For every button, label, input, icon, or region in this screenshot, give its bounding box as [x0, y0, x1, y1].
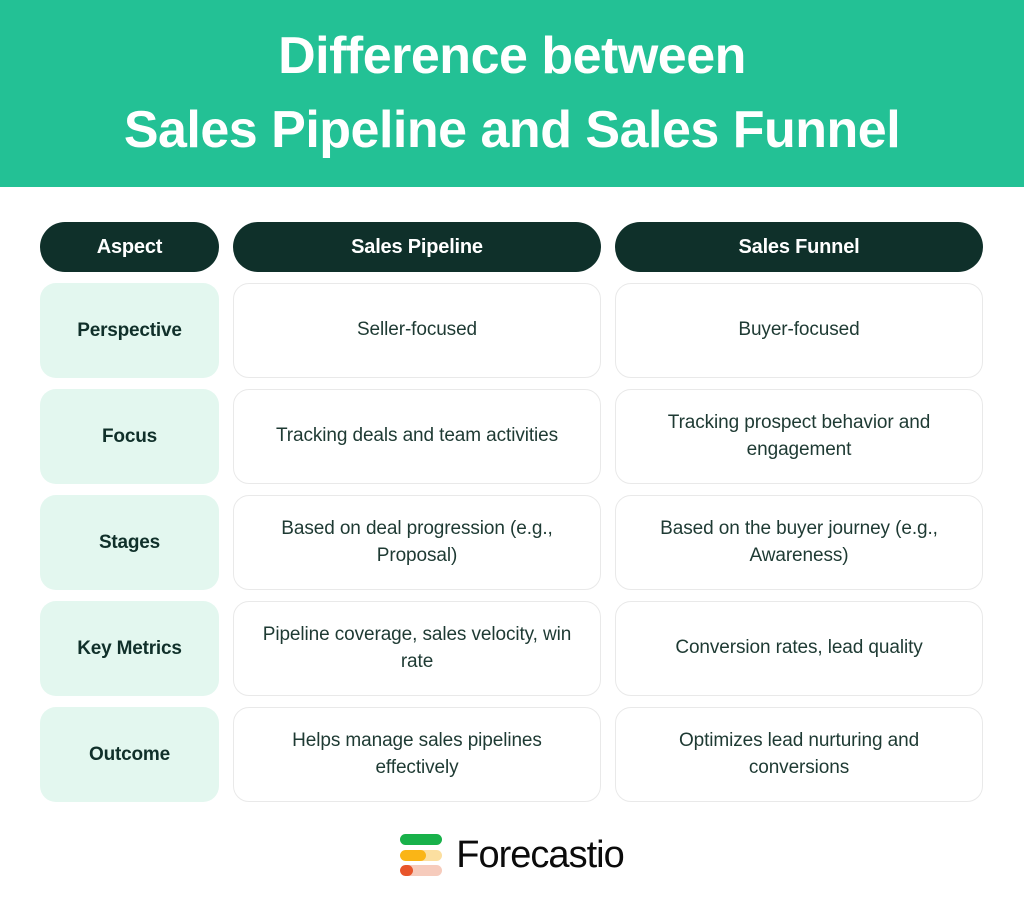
brand-footer: Forecastio [0, 832, 1024, 878]
page-title-line2: Sales Pipeline and Sales Funnel [124, 94, 900, 168]
column-header-sales-funnel: Sales Funnel [615, 222, 983, 272]
row-label-focus: Focus [40, 389, 219, 484]
table-row: Focus Tracking deals and team activities… [40, 389, 984, 484]
row-label-stages: Stages [40, 495, 219, 590]
title-banner: Difference between Sales Pipeline and Sa… [0, 0, 1024, 187]
cell-funnel-key-metrics: Conversion rates, lead quality [615, 601, 983, 696]
cell-funnel-outcome: Optimizes lead nurturing and conversions [615, 707, 983, 802]
row-label-outcome: Outcome [40, 707, 219, 802]
logo-bar-orange-dot [400, 865, 413, 876]
logo-bar-amber-fill [400, 850, 426, 861]
table-row: Key Metrics Pipeline coverage, sales vel… [40, 601, 984, 696]
forecastio-bars-icon [400, 832, 442, 878]
comparison-table: Aspect Sales Pipeline Sales Funnel Persp… [40, 222, 984, 802]
cell-pipeline-focus: Tracking deals and team activities [233, 389, 601, 484]
page-title-line1: Difference between [278, 20, 746, 94]
row-label-key-metrics: Key Metrics [40, 601, 219, 696]
column-header-sales-pipeline: Sales Pipeline [233, 222, 601, 272]
cell-pipeline-key-metrics: Pipeline coverage, sales velocity, win r… [233, 601, 601, 696]
table-row: Stages Based on deal progression (e.g., … [40, 495, 984, 590]
cell-pipeline-stages: Based on deal progression (e.g., Proposa… [233, 495, 601, 590]
logo-bar-green-icon [400, 834, 442, 845]
cell-pipeline-perspective: Seller-focused [233, 283, 601, 378]
table-row: Perspective Seller-focused Buyer-focused [40, 283, 984, 378]
column-header-aspect: Aspect [40, 222, 219, 272]
logo-bar-amber-icon [400, 850, 442, 861]
row-label-perspective: Perspective [40, 283, 219, 378]
cell-pipeline-outcome: Helps manage sales pipelines effectively [233, 707, 601, 802]
forecastio-wordmark: Forecastio [456, 836, 623, 874]
logo-bar-salmon-icon [400, 865, 442, 876]
table-header-row: Aspect Sales Pipeline Sales Funnel [40, 222, 984, 272]
cell-funnel-stages: Based on the buyer journey (e.g., Awaren… [615, 495, 983, 590]
infographic-page: Difference between Sales Pipeline and Sa… [0, 0, 1024, 922]
table-row: Outcome Helps manage sales pipelines eff… [40, 707, 984, 802]
cell-funnel-perspective: Buyer-focused [615, 283, 983, 378]
cell-funnel-focus: Tracking prospect behavior and engagemen… [615, 389, 983, 484]
